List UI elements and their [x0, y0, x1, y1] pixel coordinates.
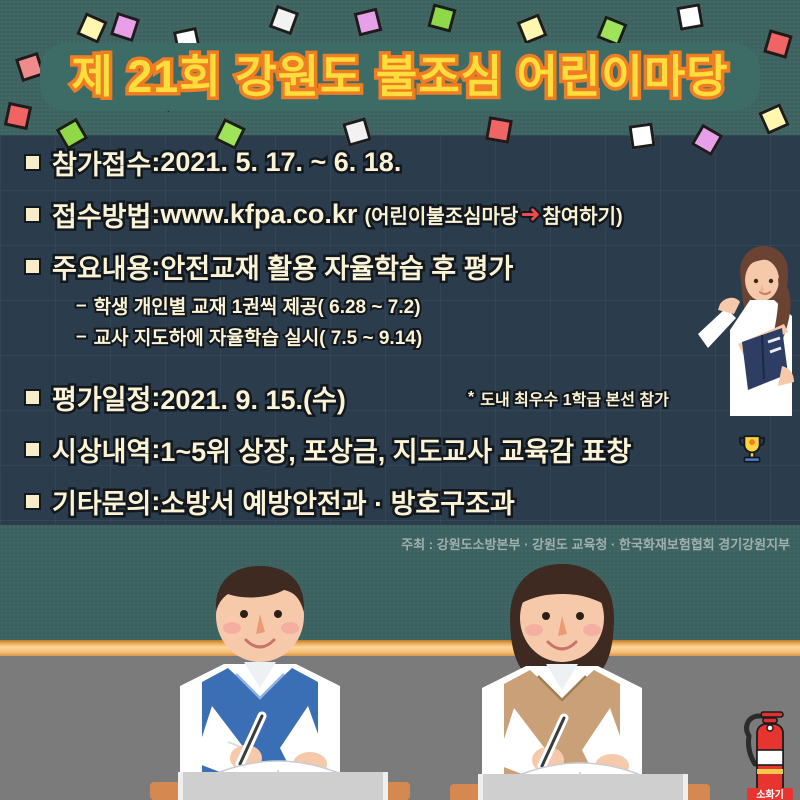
info-row-main-content: 주요내용 : 안전교재 활용 자율학습 후 평가 [24, 247, 513, 286]
student-girl [450, 556, 710, 800]
organizer-credit: 주최 : 강원도소방본부 · 강원도 교육청 · 한국화재보험협회 경기강원지부 [0, 534, 790, 553]
content-list: 참가접수 : 2021. 5. 17. ~ 6. 18. 접수방법 : www.… [0, 135, 800, 525]
url-note-open: (어린이불조심마당 [364, 200, 518, 229]
info-row-registration-period: 참가접수 : 2021. 5. 17. ~ 6. 18. [24, 143, 401, 182]
sub-item-textbook: – 학생 개인별 교재 1권씩 제공( 6.28 ~ 7.2) [76, 292, 421, 319]
sub-item-text: 교사 지도하에 자율학습 실시( 7.5 ~ 9.14) [94, 323, 423, 350]
row-label: 참가접수 [52, 143, 151, 182]
teacher-with-book [690, 238, 800, 416]
poster-root: 제 21회 강원도 불조심 어린이마당 참가접수 : 2021. 5. 17. … [0, 0, 800, 800]
sub-item-text: 학생 개인별 교재 1권씩 제공( 6.28 ~ 7.2) [94, 292, 421, 319]
note-text: 도내 최우수 1학급 본선 참가 [480, 386, 669, 410]
info-row-evaluation-date: 평가일정 : 2021. 9. 15.(수) [24, 378, 346, 417]
row-value: 2021. 9. 15.(수) [160, 378, 345, 417]
row-label: 기타문의 [52, 482, 151, 521]
row-label: 시상내역 [52, 430, 151, 469]
bullet-marker [24, 154, 41, 171]
info-row-inquiries: 기타문의 : 소방서 예방안전과 · 방호구조과 [24, 482, 515, 521]
row-value: 안전교재 활용 자율학습 후 평가 [160, 247, 513, 286]
url-note-close: 참여하기) [542, 200, 622, 229]
row-label: 접수방법 [52, 195, 151, 234]
row-label: 주요내용 [52, 247, 151, 286]
desk-panel-left [178, 772, 388, 800]
extinguisher-label: 소화기 [756, 788, 784, 800]
info-row-registration-method: 접수방법 : www.kfpa.co.kr (어린이불조심마당 ➜ 참여하기) [24, 195, 623, 234]
confetti-square [676, 3, 704, 31]
row-value: 소방서 예방안전과 · 방호구조과 [160, 482, 514, 521]
row-value: 2021. 5. 17. ~ 6. 18. [160, 147, 401, 178]
bullet-marker [24, 206, 41, 223]
asterisk-marker: * [468, 389, 474, 407]
bullet-marker [24, 493, 41, 510]
row-value: 1~5위 상장, 포상금, 지도교사 교육감 표창 [160, 430, 631, 469]
sub-item-selfstudy: – 교사 지도하에 자율학습 실시( 7.5 ~ 9.14) [76, 323, 422, 350]
bullet-marker [24, 441, 41, 458]
dash-marker: – [76, 326, 87, 348]
student-boy [150, 556, 410, 800]
trophy-icon [735, 432, 769, 466]
arrow-right-icon: ➜ [520, 200, 540, 229]
dash-marker: – [76, 295, 87, 317]
fire-extinguisher-icon: 소화기 [735, 706, 797, 800]
bullet-marker [24, 389, 41, 406]
info-row-awards: 시상내역 : 1~5위 상장, 포상금, 지도교사 교육감 표창 [24, 430, 631, 469]
row-label: 평가일정 [52, 378, 151, 417]
desk-panel-right [478, 774, 688, 800]
evaluation-note: * 도내 최우수 1학급 본선 참가 [468, 386, 669, 410]
registration-url[interactable]: www.kfpa.co.kr [160, 199, 357, 230]
bullet-marker [24, 258, 41, 275]
page-title: 제 21회 강원도 불조심 어린이마당 [0, 42, 800, 112]
